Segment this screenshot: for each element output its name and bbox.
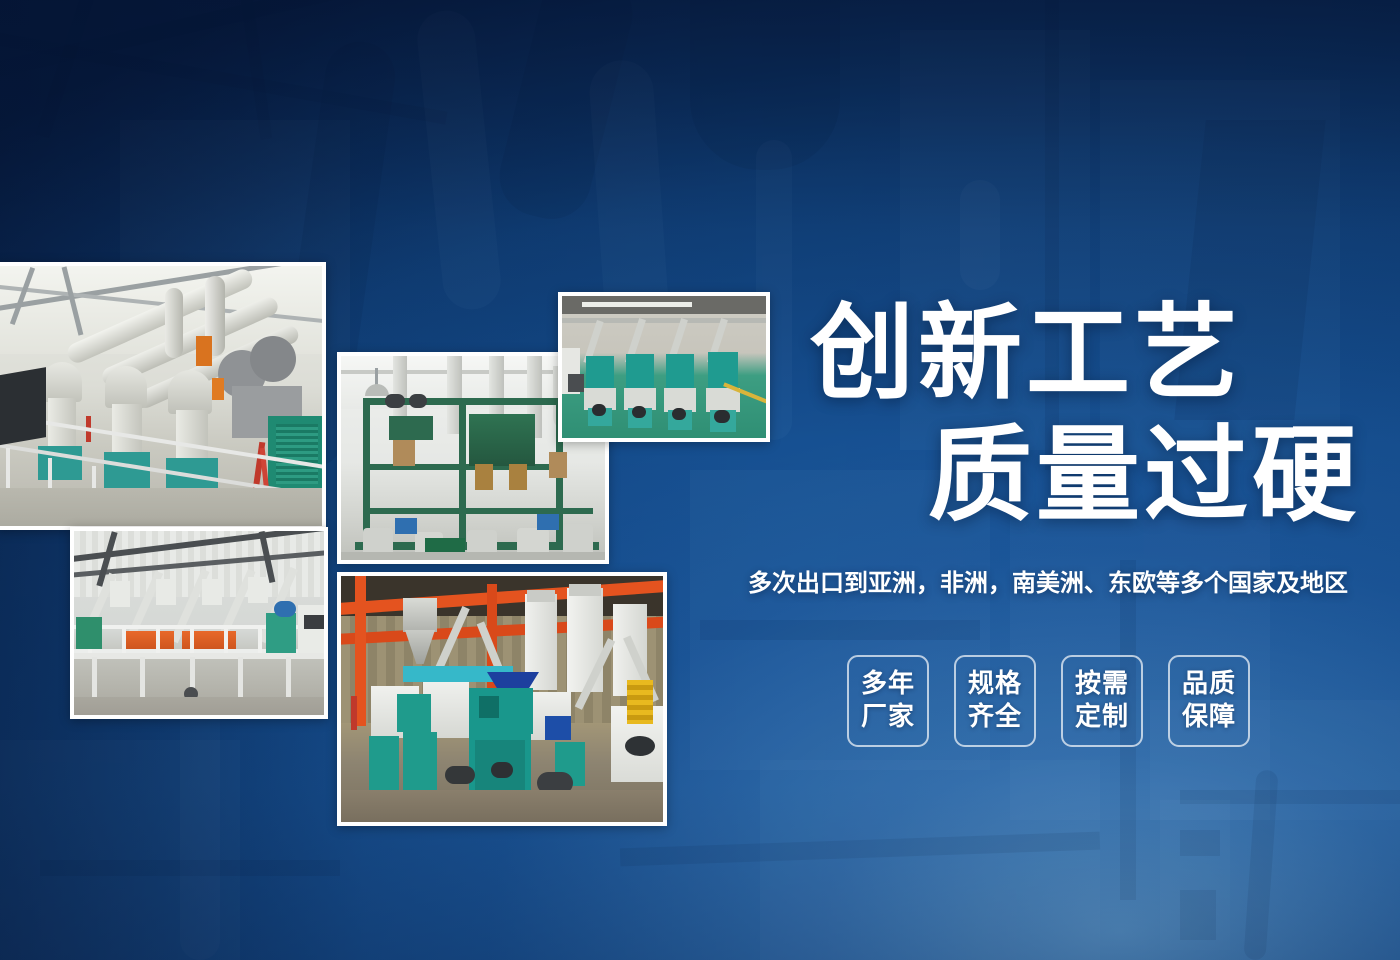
badge-line-2: 厂家	[861, 701, 915, 734]
photo-long-line-orange-conveyor	[70, 527, 328, 719]
badge-custom-on-demand[interactable]: 按需 定制	[1061, 655, 1143, 747]
headline-line-1: 创新工艺	[810, 292, 1400, 414]
promo-banner: 创新工艺 质量过硬 多次出口到亚洲，非洲，南美洲、东欧等多个国家及地区 多年 厂…	[0, 0, 1400, 960]
photo-teal-machines-orange-beams	[337, 572, 667, 826]
headline-line-2: 质量过硬	[928, 414, 1400, 536]
badge-line-1: 规格	[968, 668, 1022, 701]
badge-line-2: 齐全	[968, 701, 1022, 734]
badge-line-2: 定制	[1075, 701, 1129, 734]
feature-badge-row: 多年 厂家 规格 齐全 按需 定制 品质 保障	[847, 655, 1250, 747]
badge-quality-guarantee[interactable]: 品质 保障	[1168, 655, 1250, 747]
badge-many-years-manufacturer[interactable]: 多年 厂家	[847, 655, 929, 747]
headline-block: 创新工艺 质量过硬	[0, 292, 1400, 536]
badge-full-specifications[interactable]: 规格 齐全	[954, 655, 1036, 747]
badge-line-1: 多年	[861, 668, 915, 701]
badge-line-2: 保障	[1182, 701, 1236, 734]
badge-line-1: 品质	[1182, 668, 1236, 701]
badge-line-1: 按需	[1075, 668, 1129, 701]
subtitle: 多次出口到亚洲，非洲，南美洲、东欧等多个国家及地区	[748, 566, 1348, 600]
